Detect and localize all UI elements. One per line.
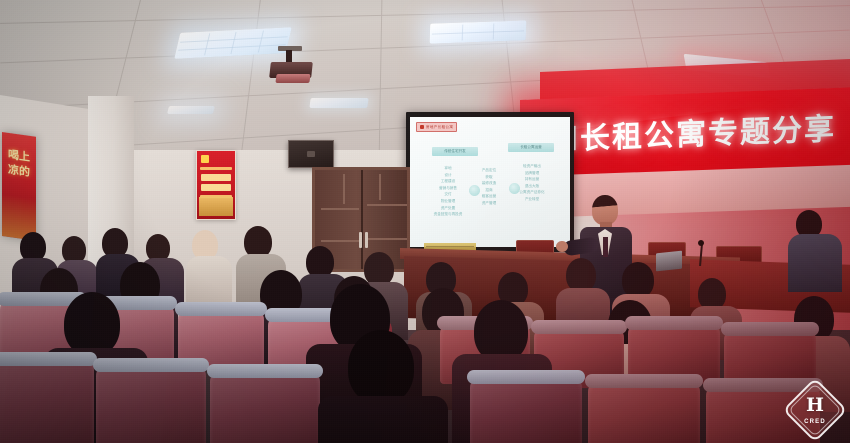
projection-screen: 房地产长租公寓 传统住宅开发 长租公寓运营 拿地 设计 工程建设 营销与销售 交… [410,117,570,247]
auditorium-seat[interactable] [96,362,206,443]
watermark-letter: H [792,396,838,415]
auditorium-seat[interactable] [588,378,700,443]
projector-lens [275,74,310,83]
ceiling-light [309,98,368,108]
presenter-laptop [656,251,682,272]
slide-column-right: 轻资产输出 品牌管理 持有运营 退出大阪 公寓资产证券化 产业转型 [510,163,554,203]
door-split [361,170,363,269]
slide-tag-label: 房地产长租公寓 [426,125,453,130]
photo-scene: 和长租公寓专题分享 房地产长租公寓 传统住宅开发 长租公寓运营 拿地 设计 工程… [0,0,850,443]
left-wall-poster: 喝上凉的 [2,132,36,241]
presenter-hand [556,241,568,252]
ceiling-light [167,106,215,114]
auditorium-seat[interactable] [0,356,94,443]
watermark-text: CRED [792,419,838,425]
poster-emblem [201,155,209,163]
slide-column-mid: 产品定位 获取 装修改造 招商 租客运营 资产管理 [468,167,510,207]
slide-title-tag: 房地产长租公寓 [416,122,457,132]
auditorium-seat[interactable] [210,368,320,443]
banner-text: 和长租公寓专题分享 [548,104,836,159]
presenter-tie [603,237,608,257]
auditorium-seat[interactable] [470,374,582,443]
watermark-logo: H CRED [792,387,838,433]
wall-speaker [288,140,334,168]
slide-tag-dot [420,125,424,129]
presenter-head [592,195,618,225]
left-poster-text: 喝上凉的 [8,147,36,181]
back-wall-poster [196,150,236,220]
speaker-grille [307,151,315,157]
slide-header-left: 传统住宅开发 [432,147,478,156]
poster-gold-band [199,197,234,216]
door-handle[interactable] [359,232,362,248]
slide-column-left: 拿地 设计 工程建设 营销与销售 交付 物业管理 资产处置 资金回笼与再投资 [428,165,468,218]
desk-microphone [698,240,704,246]
projection-screen-frame: 房地产长租公寓 传统住宅开发 长租公寓运营 拿地 设计 工程建设 营销与销售 交… [406,112,574,252]
slide-header-right: 长租公寓运营 [508,143,554,152]
door-handle[interactable] [365,232,368,248]
